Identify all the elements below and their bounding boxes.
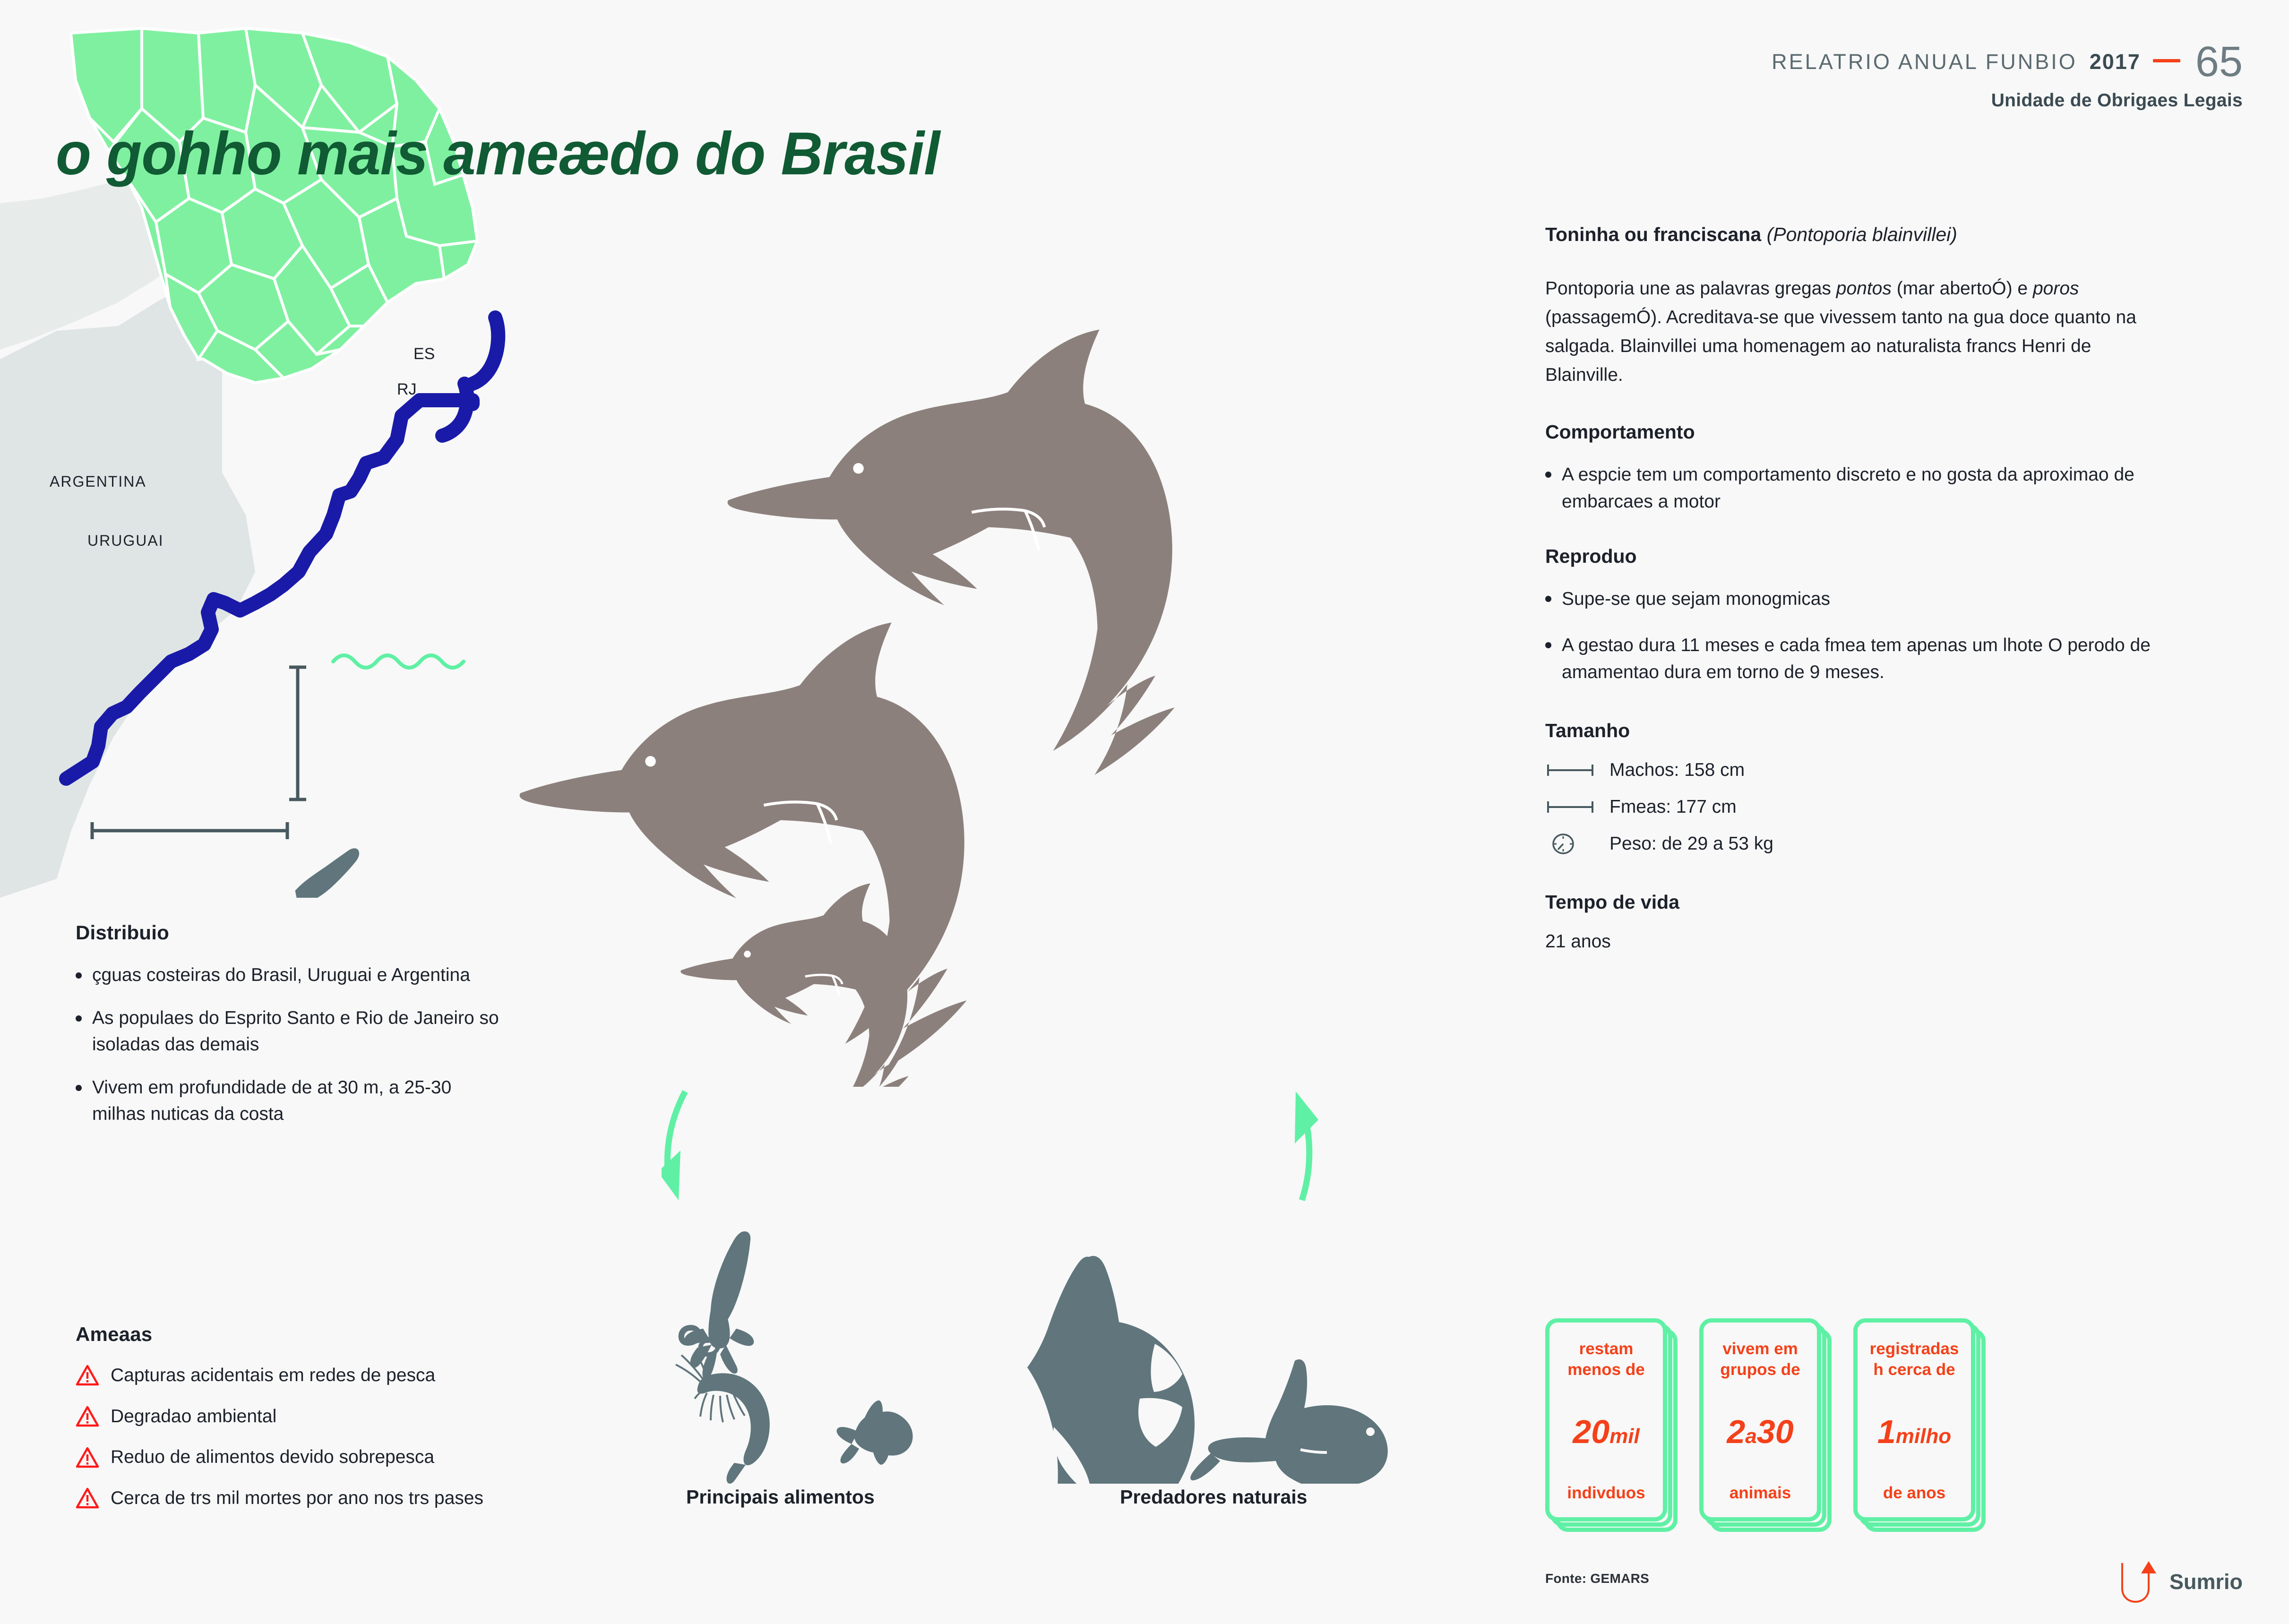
small-dolphin-icon [284,847,377,898]
stat-card-fossil-age: registradas h cerca de 1milho de anos [1853,1318,1975,1521]
lifespan-heading: Tempo de vida [1545,891,2216,913]
species-info-panel: Toninha ou franciscana (Pontoporia blain… [1545,222,2216,952]
measure-bar-icon [1545,760,1595,781]
report-year: 2017 [2090,50,2141,74]
bullet-dot-icon [1545,472,1551,478]
small-fish-icon [836,1401,912,1465]
threat-item-text: Capturas acidentais em redes de pesca [111,1364,435,1388]
wave-icon [333,655,464,668]
card-unit: a [1745,1425,1756,1448]
summary-link-label[interactable]: Sumrio [2169,1570,2243,1594]
card-front: registradas h cerca de 1milho de anos [1853,1318,1975,1521]
threats-section: Ameaas Capturas acidentais em redes de p… [76,1323,483,1528]
lifespan-value: 21 anos [1545,931,2216,952]
threat-item: Degradao ambiental [76,1405,483,1429]
reproduction-item-text: A gestao dura 11 meses e cada fmea tem a… [1562,632,2171,686]
card-top-text: restam menos de [1567,1339,1644,1380]
stat-card-population: restam menos de 20mil indivduos [1545,1318,1667,1521]
infographic-page: ES RJ ARGENTINA URUGUAI [0,0,2289,1624]
distribution-section: Distribuio çguas costeiras do Brasil, Ur… [76,921,508,1144]
header-dash-divider [2153,59,2180,62]
card-big-value: 2a30 [1727,1415,1793,1448]
predators-caption: Predadores naturais [1120,1486,1308,1508]
threats-heading: Ameaas [76,1323,483,1346]
map-label-rj: RJ [397,380,417,398]
distribution-item-text: çguas costeiras do Brasil, Uruguai e Arg… [92,962,470,988]
shrimp-icon [676,1353,770,1484]
prey-predator-silhouettes [662,1229,1427,1484]
card-top-line1: registradas [1870,1339,1959,1359]
threat-item-text: Cerca de trs mil mortes por ano nos trs … [111,1487,483,1511]
bullet-dot-icon [1545,596,1551,602]
size-row-females: Fmeas: 177 cm [1545,797,2216,817]
card-front: vivem em grupos de 2a30 animais [1699,1318,1821,1521]
size-row-weight: Peso: de 29 a 53 kg [1545,833,2216,854]
arrow-up-right-icon [1295,1091,1318,1200]
warning-triangle-icon [76,1487,99,1509]
dolphin-illustrations [510,284,1408,1087]
lifespan-section: Tempo de vida 21 anos [1545,891,2216,952]
etymology-part-1: Pontoporia une as palavras gregas [1545,278,1836,299]
card-front: restam menos de 20mil indivduos [1545,1318,1667,1521]
threat-item: Cerca de trs mil mortes por ano nos trs … [76,1487,483,1511]
card-top-line2: grupos de [1720,1359,1800,1380]
stat-card-group-size: vivem em grupos de 2a30 animais [1699,1318,1821,1521]
size-row-label: Machos: 158 cm [1609,760,1745,781]
card-top-line1: restam [1567,1339,1644,1359]
scale-weight-icon [1545,833,1595,854]
etymology-greek-2: poros [2033,278,2079,299]
card-big-value: 20mil [1573,1415,1639,1448]
card-top-line2: h cerca de [1870,1359,1959,1380]
card-unit: milho [1896,1425,1951,1448]
bullet-dot-icon [76,1015,82,1022]
reproduction-item-text: Supe-se que sejam monogmicas [1562,585,1830,612]
threat-item-text: Degradao ambiental [111,1405,276,1429]
etymology-greek-1: pontos [1836,278,1892,299]
measure-bar-icon [1545,797,1595,817]
page-header: RELATRIO ANUAL FUNBIO 2017 65 Unidade de… [1772,45,2243,111]
distribution-item-text: As populaes do Esprito Santo e Rio de Ja… [92,1005,508,1057]
card-top-text: vivem em grupos de [1720,1339,1800,1380]
behavior-item: A espcie tem um comportamento discreto e… [1545,461,2216,516]
card-big-value: 1milho [1877,1415,1951,1448]
source-note: Fonte: GEMARS [1545,1571,1649,1586]
threat-item: Capturas acidentais em redes de pesca [76,1364,483,1388]
card-number: 1 [1877,1413,1896,1450]
distribution-item: Vivem em profundidade de at 30 m, a 25-3… [76,1074,508,1127]
squid-icon [679,1231,754,1380]
distance-scale-bar [92,822,287,839]
reproduction-heading: Reproduo [1545,545,2216,567]
reproduction-item: Supe-se que sejam monogmicas [1545,585,2216,612]
size-section: Tamanho Machos: 158 cm Fmeas: 177 cm [1545,720,2216,854]
species-common-name: Toninha ou franciscana [1545,223,1761,245]
warning-triangle-icon [76,1406,99,1427]
return-arrow-icon[interactable] [2116,1559,2157,1605]
food-caption: Principais alimentos [686,1486,875,1508]
header-unit: Unidade de Obrigaes Legais [1772,90,2243,111]
map-label-es: ES [413,345,435,363]
card-number-2: 30 [1757,1413,1794,1450]
size-heading: Tamanho [1545,720,2216,742]
card-unit: mil [1609,1425,1640,1448]
bullet-dot-icon [1545,642,1551,648]
etymology-part-2: (mar abertoÓ) e [1892,278,2033,299]
distribution-item: çguas costeiras do Brasil, Uruguai e Arg… [76,962,508,988]
card-top-line1: vivem em [1720,1339,1800,1359]
reproduction-item: A gestao dura 11 meses e cada fmea tem a… [1545,632,2216,686]
map-label-argentina: ARGENTINA [50,473,146,490]
report-title: RELATRIO ANUAL FUNBIO [1772,50,2077,74]
summary-link[interactable]: Sumrio [2116,1559,2243,1605]
arrow-down-left-icon [662,1091,685,1200]
card-top-text: registradas h cerca de [1870,1339,1959,1380]
behavior-heading: Comportamento [1545,421,2216,443]
distribution-item: As populaes do Esprito Santo e Rio de Ja… [76,1005,508,1057]
card-bottom-text: indivduos [1567,1483,1645,1503]
species-scientific-name: (Pontoporia blainvillei) [1767,223,1957,245]
shark-icon [1190,1359,1388,1484]
distribution-item-text: Vivem em profundidade de at 30 m, a 25-3… [92,1074,508,1127]
card-bottom-text: de anos [1883,1483,1945,1503]
bullet-dot-icon [76,1085,82,1091]
warning-triangle-icon [76,1365,99,1386]
page-number: 65 [2195,45,2243,79]
species-title: Toninha ou franciscana (Pontoporia blain… [1545,222,2216,247]
card-number: 2 [1727,1413,1745,1450]
stat-cards: restam menos de 20mil indivduos vivem em… [1545,1318,1975,1521]
threat-item-text: Reduo de alimentos devido sobrepesca [111,1445,434,1469]
depth-scale-bar [289,667,306,799]
distribution-heading: Distribuio [76,921,508,944]
orca-icon [1027,1256,1195,1484]
threat-item: Reduo de alimentos devido sobrepesca [76,1445,483,1469]
card-top-line2: menos de [1567,1359,1644,1380]
dolphin-small-bottom [680,884,908,1087]
bullet-dot-icon [76,972,82,979]
size-row-males: Machos: 158 cm [1545,760,2216,781]
header-top-row: RELATRIO ANUAL FUNBIO 2017 65 [1772,45,2243,79]
size-row-label: Peso: de 29 a 53 kg [1609,833,1773,854]
species-etymology: Pontoporia une as palavras gregas pontos… [1545,275,2148,389]
behavior-item-text: A espcie tem um comportamento discreto e… [1562,461,2171,516]
size-row-label: Fmeas: 177 cm [1609,797,1737,817]
map-label-uruguai: URUGUAI [87,532,164,549]
etymology-part-3: (passagemÓ). Acreditava-se que vivessem … [1545,307,2136,385]
card-number: 20 [1573,1413,1609,1450]
page-title: o gohho mais ameædo do Brasil [56,119,939,189]
flow-arrows [662,1063,1323,1243]
card-bottom-text: animais [1730,1483,1791,1503]
warning-triangle-icon [76,1447,99,1469]
